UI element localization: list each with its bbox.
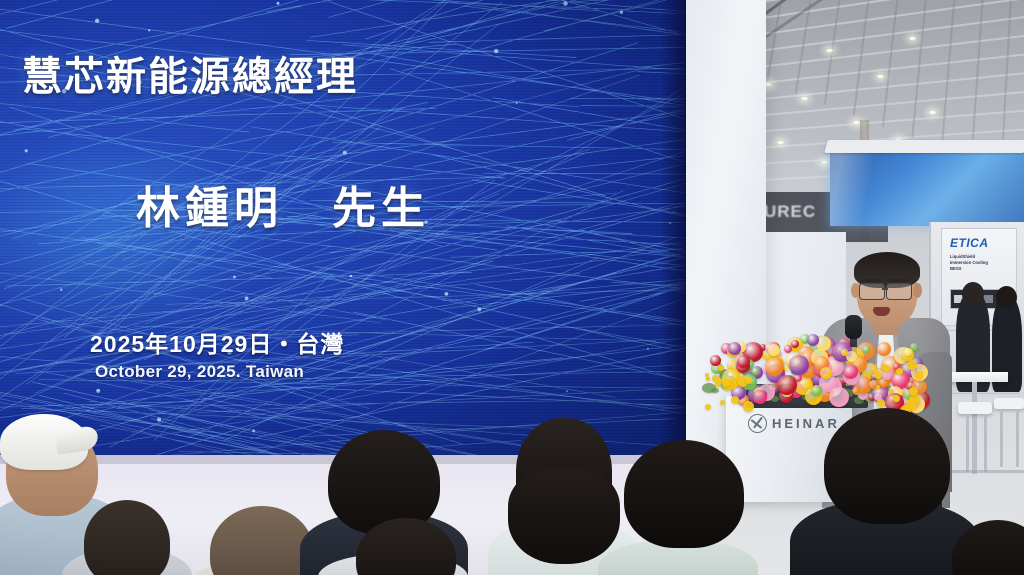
flower-bloom — [811, 385, 822, 396]
podium-logo: HEINAR — [748, 414, 840, 433]
bar-stool-1 — [958, 402, 992, 414]
flower-spray — [745, 377, 752, 384]
flower-bloom — [753, 390, 767, 404]
flower-bloom — [904, 348, 912, 356]
flower-foliage — [702, 383, 716, 393]
flower-spray — [877, 399, 885, 407]
flower-spray — [720, 400, 725, 405]
stool-leg-2 — [984, 414, 987, 472]
flower-spray — [705, 404, 711, 410]
heinar-circle-logo-icon — [748, 414, 767, 433]
flower-spray — [731, 396, 739, 404]
speaker-brow-right — [889, 279, 909, 282]
flower-bloom — [820, 367, 832, 379]
flower-spray — [883, 365, 890, 372]
bar-stool-2 — [994, 398, 1024, 409]
speaker-mouth — [873, 307, 890, 316]
audience-hair-long — [508, 468, 620, 564]
presentation-photo-scene: UREC ETICA LiquidShield Immersion Coolin… — [0, 0, 1024, 575]
ceiling-spotlight — [908, 36, 917, 41]
banner-trim — [824, 140, 1024, 153]
flower-spray — [876, 385, 880, 389]
flower-bloom — [843, 364, 858, 379]
ceiling-spotlight — [825, 48, 834, 53]
flower-spray — [896, 368, 903, 375]
flower-spray — [915, 371, 923, 379]
slide-title: 慧芯新能源總經理 — [22, 44, 358, 102]
flower-bloom — [789, 355, 809, 375]
flower-bloom — [829, 387, 849, 407]
speaker-glasses-right-lens — [886, 283, 912, 300]
flower-spray — [889, 389, 894, 394]
flower-bloom — [765, 357, 784, 376]
flower-spray — [718, 365, 724, 371]
flower-bloom — [728, 342, 741, 355]
flower-spray — [874, 371, 882, 379]
flower-bloom — [852, 387, 859, 394]
speaker-ear-right — [913, 283, 922, 298]
visitor-head-2 — [996, 286, 1017, 309]
audience-head-4 — [328, 430, 440, 534]
flower-bloom — [807, 334, 819, 346]
flower-spray — [705, 373, 709, 377]
etica-subtitle-text: LiquidShield Immersion Cooling BESS — [950, 254, 1012, 272]
slide-speaker-name: 林鍾明 先生 — [136, 172, 430, 236]
flower-bloom — [777, 375, 797, 395]
visitor-head — [962, 282, 984, 306]
ceiling-spotlight — [820, 160, 829, 165]
flower-bloom — [768, 344, 780, 356]
audience-head-7 — [624, 440, 744, 548]
flower-bloom — [863, 346, 870, 353]
flower-bloom — [791, 340, 799, 348]
etica-brand-text: ETICA — [950, 236, 989, 250]
stool-leg-1 — [966, 414, 969, 472]
far-booth-sign: UREC — [764, 202, 816, 222]
booth-high-table — [946, 372, 1008, 382]
flower-bloom — [752, 368, 759, 375]
speaker-glasses-bridge — [882, 288, 888, 290]
flower-spray — [907, 360, 917, 370]
flower-spray — [715, 381, 721, 387]
ceiling-joist — [853, 0, 870, 115]
ceiling-joist — [882, 0, 898, 126]
flower-spray — [743, 401, 754, 412]
stage-led-screen: 慧芯新能源總經理 林鍾明 先生 2025年10月29日・台灣 October 2… — [0, 0, 686, 455]
table-leg — [972, 382, 977, 474]
slide-date-english: October 29, 2025. Taiwan — [95, 362, 304, 382]
ceiling-joist — [941, 0, 955, 149]
speaker-glasses-left-lens — [859, 283, 885, 300]
flower-spray — [909, 387, 918, 396]
flower-spray — [893, 395, 900, 402]
flower-arrangement — [700, 330, 916, 408]
flower-bloom — [841, 349, 848, 356]
flower-bloom — [737, 355, 750, 368]
speaker-brow-left — [861, 279, 881, 282]
podium-brand-text: HEINAR — [772, 416, 840, 431]
ceiling-spotlight — [776, 140, 785, 145]
booth-led-banner — [830, 150, 1024, 226]
flower-spray — [706, 377, 710, 381]
flower-spray — [722, 378, 731, 387]
slide-date-chinese: 2025年10月29日・台灣 — [90, 325, 344, 359]
ceiling-spotlight — [928, 110, 937, 115]
stool-leg-3 — [1000, 409, 1003, 467]
audience-head-8 — [824, 408, 950, 524]
flower-bloom — [877, 342, 891, 356]
ceiling-spotlight — [876, 74, 885, 79]
ceiling-spotlight — [800, 96, 809, 101]
stool-leg-4 — [1016, 409, 1019, 467]
